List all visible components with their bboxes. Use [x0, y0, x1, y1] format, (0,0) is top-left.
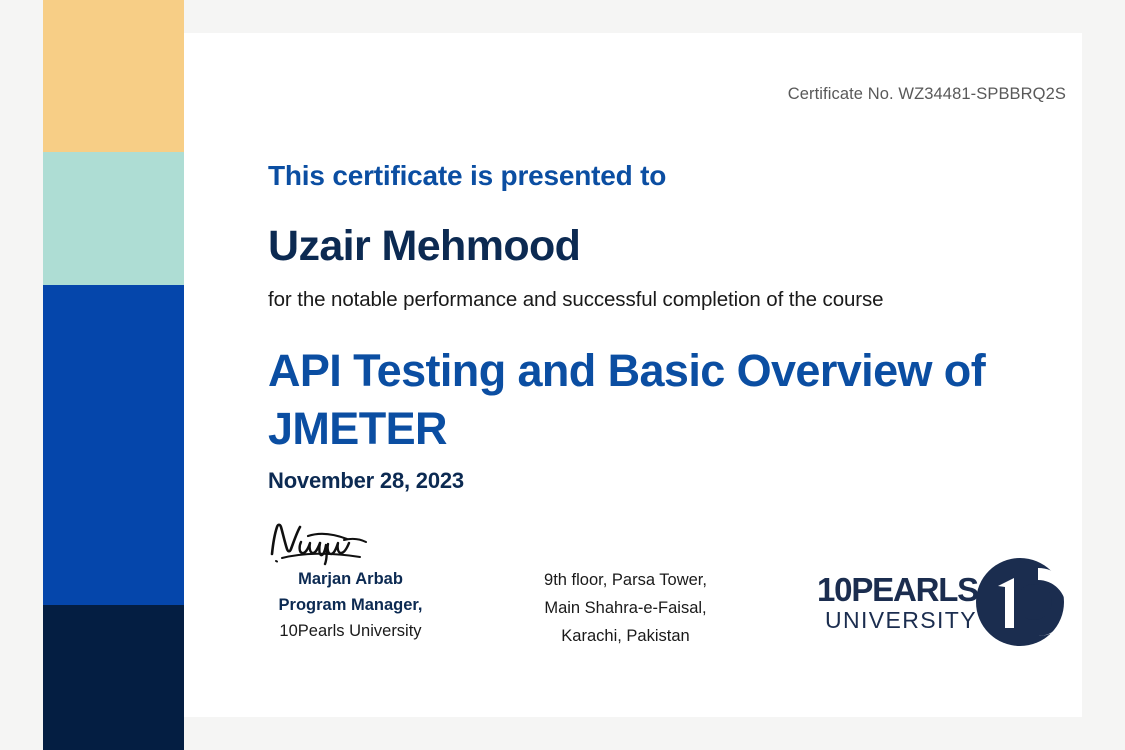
- certificate: Certificate No. WZ34481-SPBBRQ2S This ce…: [0, 0, 1125, 750]
- address-line-3: Karachi, Pakistan: [518, 622, 733, 650]
- logo-wordmark-main: 10PEARLS: [817, 573, 978, 606]
- recipient-name: Uzair Mehmood: [268, 222, 580, 271]
- signer-role: Program Manager,: [268, 592, 433, 618]
- logo-circle-mark-icon: [974, 556, 1066, 648]
- address-line-1: 9th floor, Parsa Tower,: [518, 566, 733, 594]
- signature-block: Marjan Arbab Program Manager, 10Pearls U…: [268, 518, 478, 644]
- signer-name: Marjan Arbab: [268, 566, 433, 592]
- logo-wordmark: 10PEARLS UNIVERSITY: [817, 573, 978, 632]
- signature-handwritten-text: Marjan: [268, 644, 269, 645]
- presented-to-label: This certificate is presented to: [268, 160, 666, 192]
- certificate-footer: Marjan Arbab Program Manager, 10Pearls U…: [268, 518, 1058, 678]
- issue-date: November 28, 2023: [268, 468, 464, 494]
- rail-band-mint: [43, 152, 184, 285]
- certificate-number: Certificate No. WZ34481-SPBBRQ2S: [788, 85, 1066, 104]
- decorative-color-rail: [43, 0, 184, 750]
- completion-subtitle: for the notable performance and successf…: [268, 288, 884, 312]
- tenpearls-university-logo: 10PEARLS UNIVERSITY 10: [817, 556, 1066, 648]
- address-line-2: Main Shahra-e-Faisal,: [518, 594, 733, 622]
- handwritten-signature-icon: [268, 518, 393, 566]
- signer-organization: 10Pearls University: [268, 618, 433, 644]
- organization-address: 9th floor, Parsa Tower, Main Shahra-e-Fa…: [518, 566, 733, 650]
- rail-band-navy: [43, 605, 184, 750]
- rail-band-tan: [43, 0, 184, 152]
- rail-band-blue: [43, 285, 184, 605]
- course-title: API Testing and Basic Overview of JMETER: [268, 342, 1008, 458]
- logo-wordmark-sub: UNIVERSITY: [825, 609, 977, 632]
